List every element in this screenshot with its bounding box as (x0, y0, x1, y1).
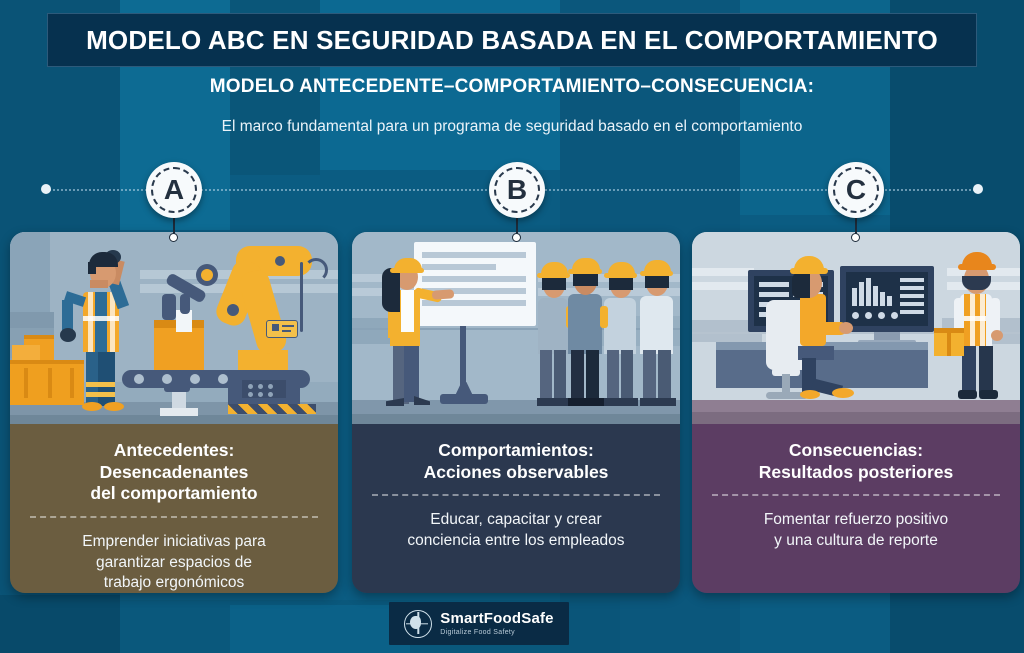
page-tagline: El marco fundamental para un programa de… (0, 118, 1024, 136)
brand-tagline: Digitalize Food Safety (440, 629, 515, 636)
illustration-worker-robot-arm (10, 232, 338, 424)
connector-endpoint-dot (973, 184, 983, 194)
card-body: Emprender iniciativas paragarantizar esp… (26, 532, 322, 593)
illustration-trainer-whiteboard (352, 232, 680, 424)
step-badge-letter: B (507, 176, 527, 204)
brand-name: SmartFoodSafe (440, 611, 553, 626)
card-divider (30, 516, 318, 518)
card-consecuencias[interactable]: Consecuencias:Resultados posteriores Fom… (692, 232, 1020, 593)
background-band (230, 605, 410, 653)
card-divider (372, 494, 660, 496)
card-comportamientos[interactable]: Comportamientos:Acciones observables Edu… (352, 232, 680, 593)
badge-stem-dot (512, 233, 521, 242)
brand-logo[interactable]: SmartFoodSafe Digitalize Food Safety (389, 602, 569, 645)
globe-icon (404, 610, 432, 638)
card-panel-comportamientos: Comportamientos:Acciones observables Edu… (352, 424, 680, 593)
card-heading: Antecedentes:Desencadenantesdel comporta… (26, 440, 322, 505)
card-heading: Comportamientos:Acciones observables (368, 440, 664, 483)
card-body: Fomentar refuerzo positivoy una cultura … (708, 510, 1004, 551)
page-title: MODELO ABC EN SEGURIDAD BASADA EN EL COM… (86, 25, 938, 56)
connector-endpoint-dot (41, 184, 51, 194)
card-divider (712, 494, 1000, 496)
badge-stem-dot (851, 233, 860, 242)
step-badge-c[interactable]: C (828, 162, 884, 218)
illustration-control-room (692, 232, 1020, 424)
step-badge-a[interactable]: A (146, 162, 202, 218)
step-badge-letter: A (164, 176, 184, 204)
card-panel-antecedentes: Antecedentes:Desencadenantesdel comporta… (10, 424, 338, 593)
card-panel-consecuencias: Consecuencias:Resultados posteriores Fom… (692, 424, 1020, 593)
card-antecedentes[interactable]: Antecedentes:Desencadenantesdel comporta… (10, 232, 338, 593)
step-badge-b[interactable]: B (489, 162, 545, 218)
page-title-bar: MODELO ABC EN SEGURIDAD BASADA EN EL COM… (47, 13, 977, 67)
page-subtitle: MODELO ANTECEDENTE–COMPORTAMIENTO–CONSEC… (0, 76, 1024, 98)
card-body: Educar, capacitar y crearconciencia entr… (368, 510, 664, 551)
card-heading: Consecuencias:Resultados posteriores (708, 440, 1004, 483)
background-band (0, 595, 120, 653)
infographic-root: MODELO ABC EN SEGURIDAD BASADA EN EL COM… (0, 0, 1024, 653)
step-badge-letter: C (846, 176, 866, 204)
badge-stem-dot (169, 233, 178, 242)
